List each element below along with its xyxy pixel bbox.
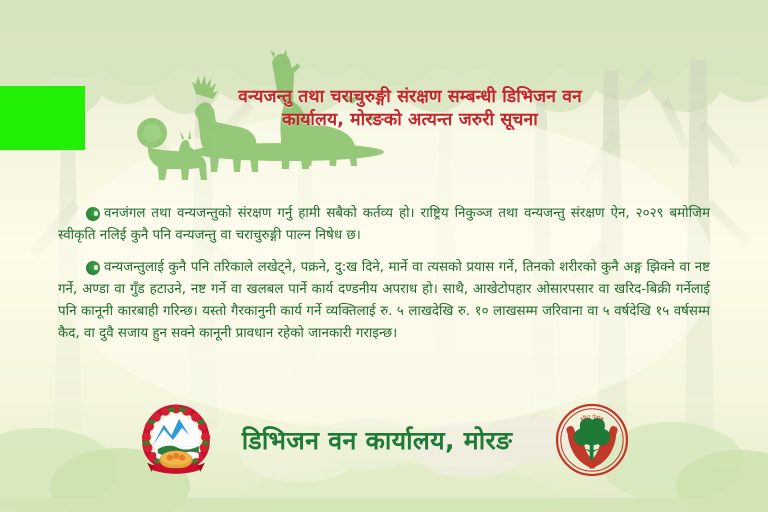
title-line-1: वन्यजन्तु तथा चराचुरुङ्गी संरक्षण सम्बन्… (190, 86, 630, 109)
leaf-bullet-icon (86, 207, 100, 221)
forest-department-emblem-icon: हरित नेपाल (554, 402, 630, 478)
leaf-bullet-icon (86, 261, 100, 275)
notice-paragraph-2: वन्यजन्तुलाई कुनै पनि तरिकाले लखेट्ने, प… (58, 257, 710, 344)
page-title: वन्यजन्तु तथा चराचुरुङ्गी संरक्षण सम्बन्… (190, 86, 630, 132)
chroma-key-placeholder (0, 86, 85, 150)
paragraph-2-text: वन्यजन्तुलाई कुनै पनि तरिकाले लखेट्ने, प… (58, 260, 710, 340)
footer: डिभिजन वन कार्यालय, मोरङ (0, 398, 768, 482)
paragraph-1-text: वनजंगल तथा वन्यजन्तुको संरक्षण गर्नु हाम… (58, 206, 710, 243)
footer-office-name: डिभिजन वन कार्यालय, मोरङ (242, 423, 512, 457)
nepal-government-emblem-icon (138, 402, 214, 478)
notice-paragraph-1: वनजंगल तथा वन्यजन्तुको संरक्षण गर्नु हाम… (58, 203, 710, 246)
title-line-2: कार्यालय, मोरङको अत्यन्त जरुरी सूचना (190, 109, 630, 132)
notice-body: वनजंगल तथा वन्यजन्तुको संरक्षण गर्नु हाम… (58, 203, 710, 355)
notice-poster: वन्यजन्तु तथा चराचुरुङ्गी संरक्षण सम्बन्… (0, 0, 768, 512)
